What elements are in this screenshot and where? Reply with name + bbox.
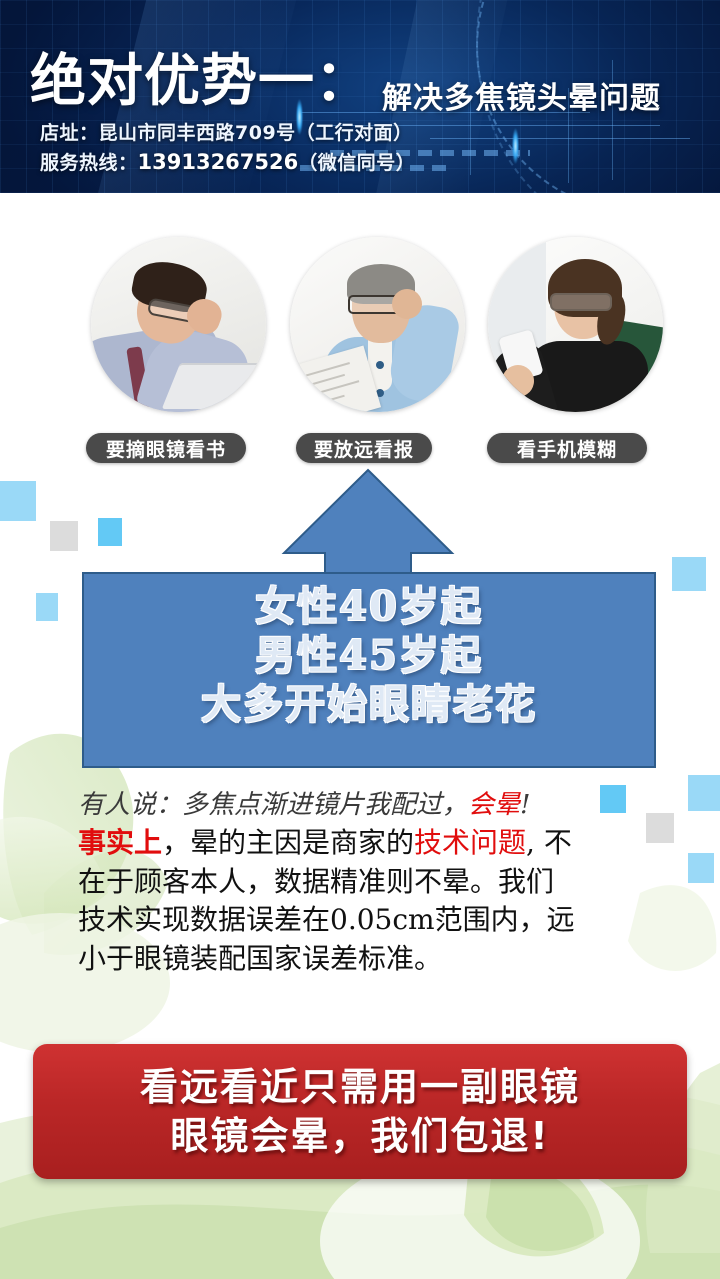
hotline-label: 服务热线： bbox=[40, 152, 138, 174]
hotline-note: （微信同号） bbox=[298, 152, 415, 174]
paragraph-line1-plain: 有人说：多焦点渐进镜片我配过， bbox=[78, 790, 468, 820]
paragraph-line1-highlight: 会晕 bbox=[468, 790, 520, 820]
photo-woman-with-phone bbox=[488, 237, 663, 412]
guarantee-line-1: 看远看近只需用一副眼镜 bbox=[140, 1063, 580, 1112]
age-line-1: 女性40岁起 bbox=[82, 583, 656, 632]
symptom-photo-1 bbox=[91, 237, 266, 412]
decor-square-blue-left-3 bbox=[98, 518, 122, 546]
guarantee-banner: 看远看近只需用一副眼镜 眼镜会晕，我们包退! bbox=[33, 1044, 687, 1179]
symptom-label-3: 看手机模糊 bbox=[487, 433, 647, 463]
header-banner: 绝对优势一： 解决多焦镜头晕问题 店址：昆山市同丰西路709号（工行对面） 服务… bbox=[0, 0, 720, 193]
decor-square-blue-left-1 bbox=[0, 481, 36, 521]
paragraph-line2-highlight-mid: 技术问题 bbox=[414, 826, 526, 859]
decor-square-gray-left-1 bbox=[50, 521, 78, 551]
paragraph-line-5: 小于眼镜装配国家误差标准。 bbox=[78, 940, 648, 979]
paragraph-line-1: 有人说：多焦点渐进镜片我配过，会晕! bbox=[78, 788, 648, 824]
guarantee-line-2: 眼镜会晕，我们包退! bbox=[170, 1112, 549, 1161]
decor-square-blue-right-3 bbox=[688, 853, 714, 883]
photo-man-reading-newspaper bbox=[290, 237, 465, 412]
paragraph-line2-highlight-start: 事实上 bbox=[78, 826, 162, 859]
age-line-3: 大多开始眼睛老花 bbox=[82, 681, 656, 730]
symptom-label-2: 要放远看报 bbox=[296, 433, 432, 463]
header-deco-line-3 bbox=[430, 138, 690, 139]
decor-square-blue-left-2 bbox=[36, 593, 58, 621]
paragraph-line2-end: , 不 bbox=[526, 826, 572, 859]
decor-square-gray-right-1 bbox=[646, 813, 674, 843]
hotline-number: 13913267526 bbox=[138, 150, 299, 174]
header-glow-dot-2 bbox=[512, 128, 519, 164]
symptom-photo-2 bbox=[290, 237, 465, 412]
symptom-label-1: 要摘眼镜看书 bbox=[86, 433, 246, 463]
paragraph-line-3: 在于顾客本人，数据精准则不晕。我们 bbox=[78, 863, 648, 902]
decor-square-blue-right-2 bbox=[688, 775, 720, 811]
age-panel-text: 女性40岁起 男性45岁起 大多开始眼睛老花 bbox=[82, 583, 656, 729]
decor-square-blue-right-4 bbox=[672, 557, 706, 591]
paragraph-line1-end: ! bbox=[520, 790, 530, 820]
symptom-gallery: 要摘眼镜看书 要放远看报 看手机模糊 bbox=[0, 237, 720, 427]
paragraph-line-2: 事实上，晕的主因是商家的技术问题, 不 bbox=[78, 824, 648, 863]
photo-man-reading-book bbox=[91, 237, 266, 412]
age-line-2: 男性45岁起 bbox=[82, 632, 656, 681]
explanation-paragraph: 有人说：多焦点渐进镜片我配过，会晕! 事实上，晕的主因是商家的技术问题, 不 在… bbox=[78, 788, 648, 978]
page-subtitle: 解决多焦镜头晕问题 bbox=[382, 73, 661, 117]
store-address: 店址：昆山市同丰西路709号（工行对面） bbox=[40, 118, 413, 145]
page-title: 绝对优势一： bbox=[30, 36, 372, 117]
poster-root: 绝对优势一： 解决多焦镜头晕问题 店址：昆山市同丰西路709号（工行对面） 服务… bbox=[0, 0, 720, 1279]
symptom-photo-3 bbox=[488, 237, 663, 412]
paragraph-line-4: 技术实现数据误差在0.05cm范围内，远 bbox=[78, 901, 648, 940]
service-hotline: 服务热线：13913267526（微信同号） bbox=[40, 148, 415, 175]
paragraph-line2-mid: ，晕的主因是商家的 bbox=[162, 826, 414, 859]
